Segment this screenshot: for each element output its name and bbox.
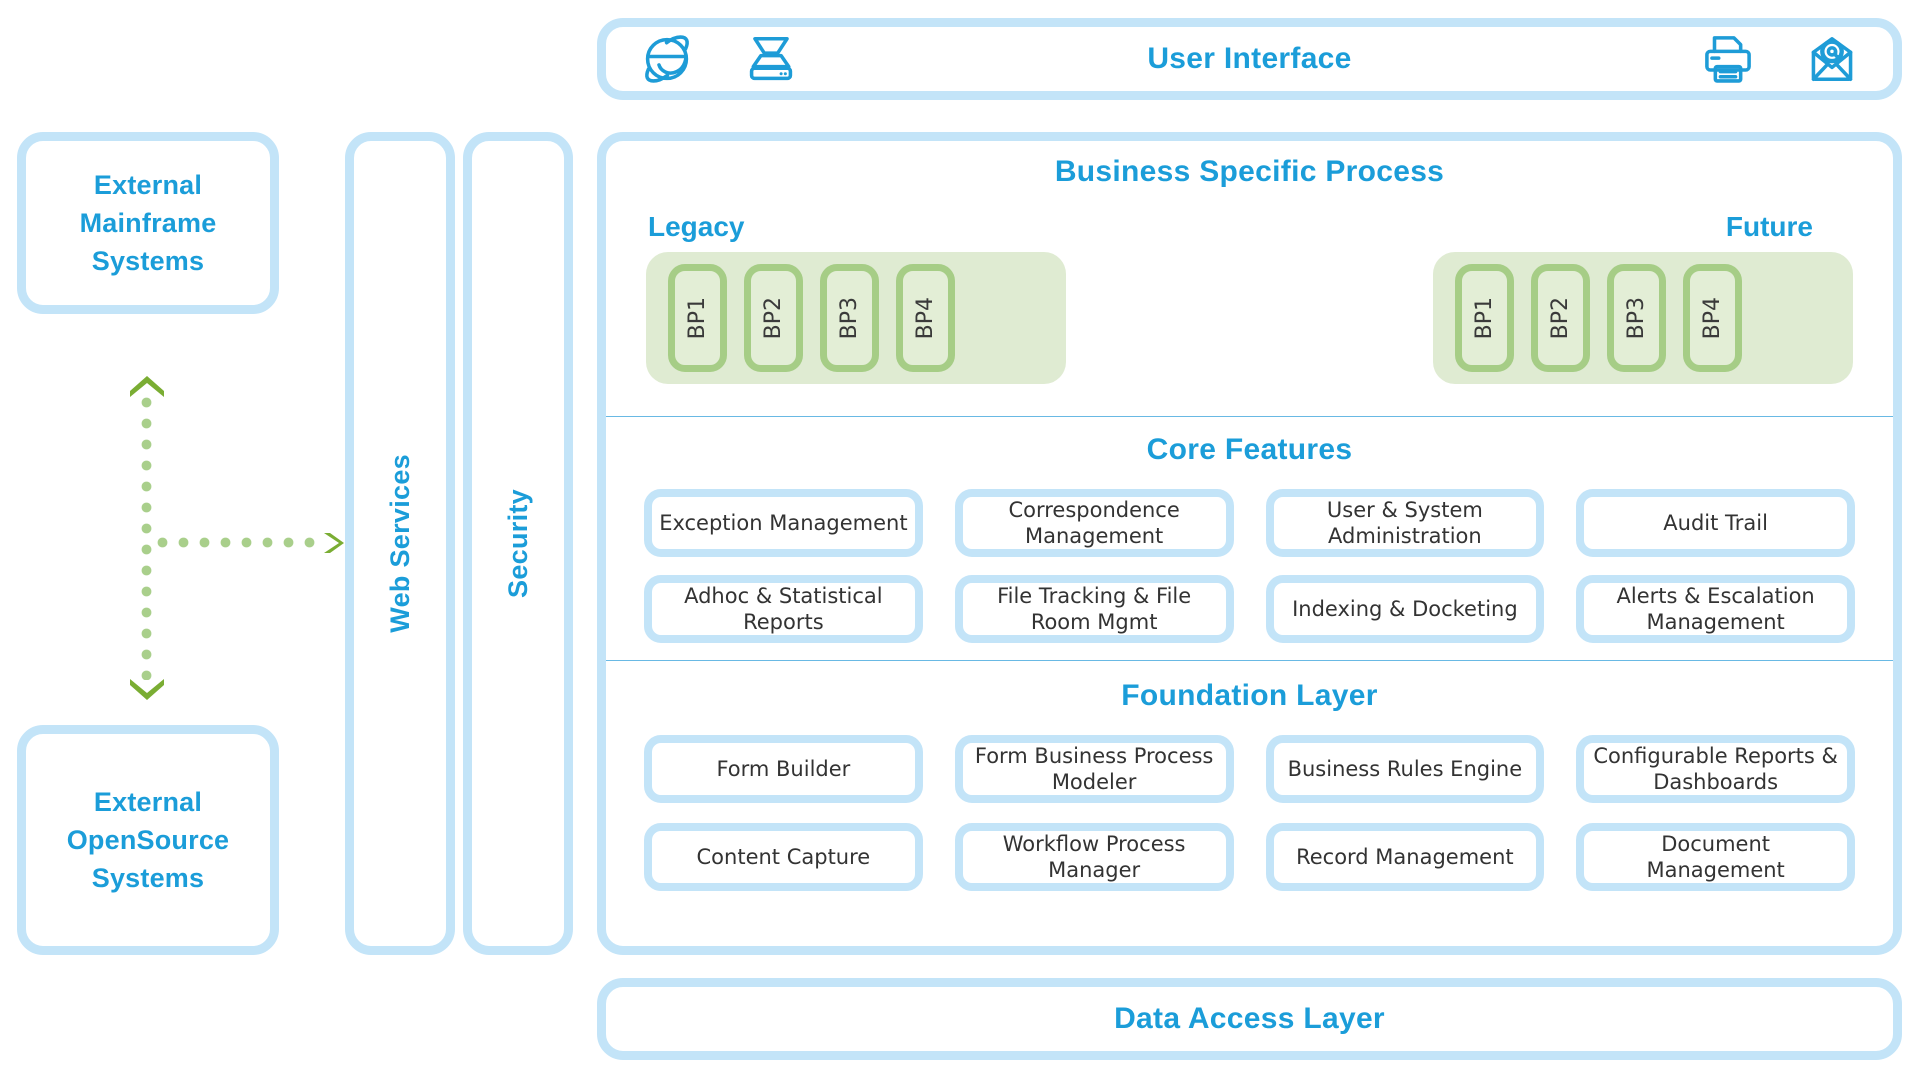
- bp-groups-row: Legacy BP1 BP2 BP3 BP4 Future BP1: [606, 211, 1893, 386]
- internet-explorer-icon[interactable]: [640, 32, 694, 86]
- core-features-section: Core Features Exception Management Corre…: [606, 417, 1893, 660]
- business-specific-process-title: Business Specific Process: [606, 155, 1893, 189]
- pillar-web-services[interactable]: Web Services: [345, 132, 455, 955]
- feature-card[interactable]: User & System Administration: [1266, 489, 1545, 557]
- bp-cell[interactable]: BP2: [1531, 264, 1590, 372]
- bp-cell-label: BP3: [1624, 297, 1649, 339]
- pillar-security[interactable]: Security: [463, 132, 573, 955]
- external-opensource-label: External OpenSource Systems: [67, 783, 230, 898]
- bp-group-future-label: Future: [1726, 211, 1813, 243]
- feature-card[interactable]: Configurable Reports & Dashboards: [1576, 735, 1855, 803]
- bp-cell[interactable]: BP3: [820, 264, 879, 372]
- arrow-up-icon: [128, 374, 166, 398]
- feature-card[interactable]: Indexing & Docketing: [1266, 575, 1545, 643]
- ext-os-line-2: OpenSource: [67, 821, 230, 859]
- ext-os-line-1: External: [67, 783, 230, 821]
- feature-card[interactable]: Workflow Process Manager: [955, 823, 1234, 891]
- email-icon[interactable]: [1805, 32, 1859, 86]
- ext-os-line-3: Systems: [67, 859, 230, 897]
- feature-card[interactable]: Alerts & Escalation Management: [1576, 575, 1855, 643]
- feature-card[interactable]: Form Builder: [644, 735, 923, 803]
- arrow-right-icon: [322, 531, 346, 555]
- feature-card[interactable]: Adhoc & Statistical Reports: [644, 575, 923, 643]
- feature-card[interactable]: Form Business Process Modeler: [955, 735, 1234, 803]
- bp-cell[interactable]: BP4: [1683, 264, 1742, 372]
- external-mainframe-label: External Mainframe Systems: [80, 166, 217, 281]
- bp-group-future[interactable]: BP1 BP2 BP3 BP4: [1433, 252, 1853, 384]
- bp-cell-label: BP4: [1700, 297, 1725, 339]
- pillar-web-services-label: Web Services: [385, 454, 416, 633]
- pillar-security-label: Security: [503, 489, 534, 598]
- architecture-diagram: External Mainframe Systems External Open…: [0, 0, 1920, 1080]
- core-features-grid: Exception Management Correspondence Mana…: [606, 489, 1893, 643]
- bp-cell-label: BP1: [1472, 297, 1497, 339]
- connector-horizontal-dotted: [152, 537, 324, 548]
- bp-cell-label: BP3: [837, 297, 862, 339]
- scanner-icon[interactable]: [744, 32, 798, 86]
- feature-card[interactable]: Business Rules Engine: [1266, 735, 1545, 803]
- bp-cell[interactable]: BP1: [1455, 264, 1514, 372]
- bp-group-legacy[interactable]: BP1 BP2 BP3 BP4: [646, 252, 1066, 384]
- data-access-layer-bar[interactable]: Data Access Layer: [597, 978, 1902, 1060]
- connector-vertical-dotted: [141, 392, 152, 680]
- bp-cell-label: BP4: [913, 297, 938, 339]
- bp-cell[interactable]: BP4: [896, 264, 955, 372]
- feature-card[interactable]: Audit Trail: [1576, 489, 1855, 557]
- external-mainframe-systems-box[interactable]: External Mainframe Systems: [17, 132, 279, 314]
- main-platform-panel: Business Specific Process Legacy BP1 BP2…: [597, 132, 1902, 955]
- feature-card[interactable]: File Tracking & File Room Mgmt: [955, 575, 1234, 643]
- feature-card[interactable]: Exception Management: [644, 489, 923, 557]
- feature-card[interactable]: Correspondence Management: [955, 489, 1234, 557]
- printer-icon[interactable]: [1701, 32, 1755, 86]
- ui-right-icons: [1701, 32, 1859, 86]
- feature-card[interactable]: Content Capture: [644, 823, 923, 891]
- user-interface-title: User Interface: [798, 42, 1701, 76]
- ext-mf-line-2: Mainframe: [80, 204, 217, 242]
- feature-card[interactable]: Document Management: [1576, 823, 1855, 891]
- ui-left-icons: [640, 32, 798, 86]
- foundation-layer-title: Foundation Layer: [606, 679, 1893, 713]
- data-access-layer-title: Data Access Layer: [1114, 1002, 1385, 1036]
- core-features-title: Core Features: [606, 433, 1893, 467]
- foundation-layer-section: Foundation Layer Form Builder Form Busin…: [606, 661, 1893, 926]
- feature-card[interactable]: Record Management: [1266, 823, 1545, 891]
- bp-cell[interactable]: BP3: [1607, 264, 1666, 372]
- bp-group-legacy-label: Legacy: [648, 211, 745, 243]
- user-interface-bar[interactable]: User Interface: [597, 18, 1902, 100]
- bp-cell[interactable]: BP2: [744, 264, 803, 372]
- bp-cell-label: BP2: [761, 297, 786, 339]
- external-opensource-systems-box[interactable]: External OpenSource Systems: [17, 725, 279, 955]
- business-specific-process-section: Business Specific Process Legacy BP1 BP2…: [606, 141, 1893, 416]
- foundation-layer-grid: Form Builder Form Business Process Model…: [606, 735, 1893, 891]
- bp-cell-label: BP2: [1548, 297, 1573, 339]
- bp-cell-label: BP1: [685, 297, 710, 339]
- bp-cell[interactable]: BP1: [668, 264, 727, 372]
- ext-mf-line-1: External: [80, 166, 217, 204]
- arrow-down-icon: [128, 678, 166, 702]
- ext-mf-line-3: Systems: [80, 242, 217, 280]
